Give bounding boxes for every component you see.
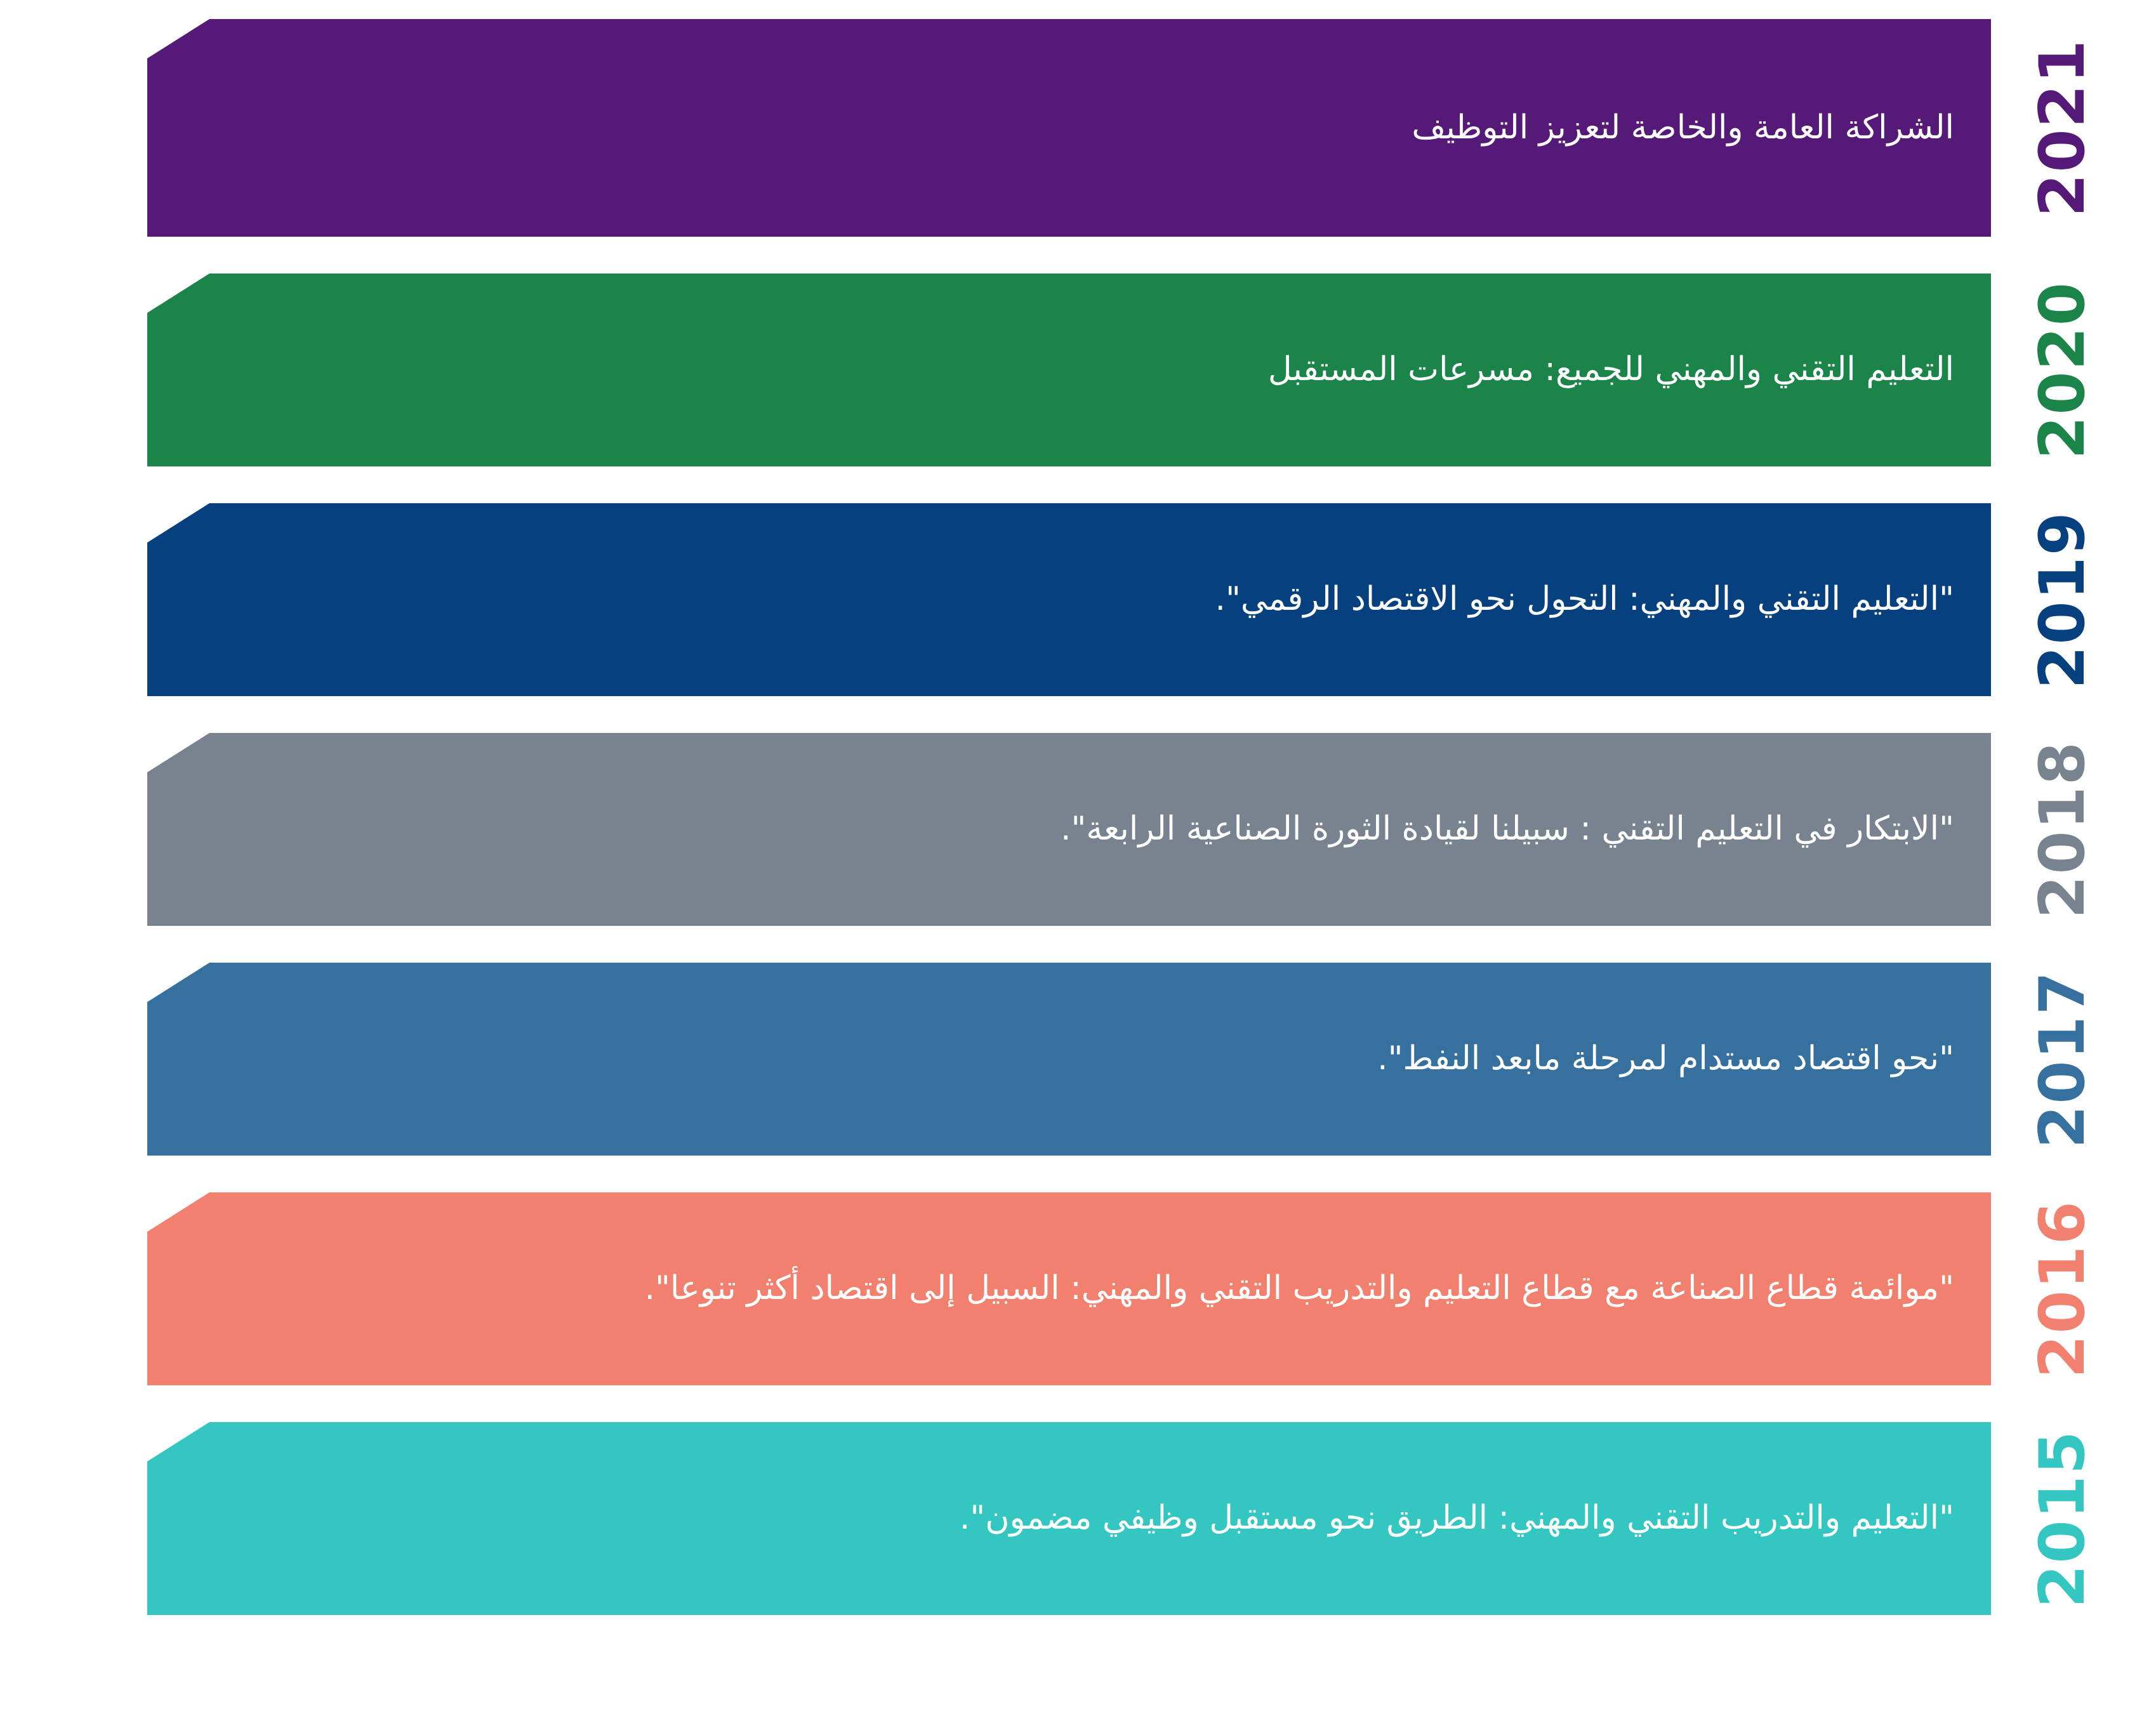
timeline-year-label-2015: 2015: [2032, 1430, 2094, 1608]
timeline-bar-text-2015: "التعليم والتدريب التقني والمهني: الطريق…: [960, 1495, 1954, 1542]
timeline-year-label-2021: 2021: [2032, 39, 2094, 217]
timeline-bar-2017: "نحو اقتصاد مستدام لمرحلة مابعد النفط".: [147, 963, 1991, 1156]
timeline-year-label-2017: 2017: [2032, 970, 2094, 1149]
timeline-year-2015: 2015: [2021, 1422, 2104, 1615]
timeline-bar-text-2021: الشراكة العامة والخاصة لتعزيز التوظيف: [1412, 105, 1954, 152]
timeline-bar-2020: التعليم التقني والمهني للجميع: مسرعات ال…: [147, 274, 1991, 466]
timeline-year-2019: 2019: [2021, 503, 2104, 696]
timeline-bar-text-2017: "نحو اقتصاد مستدام لمرحلة مابعد النفط".: [1377, 1036, 1954, 1083]
timeline-bar-text-2018: "الابتكار في التعليم التقني : سبيلنا لقي…: [1061, 806, 1954, 853]
timeline-year-2020: 2020: [2021, 274, 2104, 466]
timeline-year-label-2016: 2016: [2032, 1200, 2094, 1378]
timeline-bar-2019: "التعليم التقني والمهني: التحول نحو الاق…: [147, 503, 1991, 696]
timeline-bar-text-2020: التعليم التقني والمهني للجميع: مسرعات ال…: [1268, 346, 1954, 393]
timeline-year-2016: 2016: [2021, 1192, 2104, 1385]
timeline-bar-2021: الشراكة العامة والخاصة لتعزيز التوظيف: [147, 19, 1991, 237]
timeline-year-label-2020: 2020: [2032, 281, 2094, 459]
timeline-infographic: الشراكة العامة والخاصة لتعزيز التوظيف202…: [0, 0, 2156, 1721]
timeline-year-label-2018: 2018: [2032, 741, 2094, 919]
timeline-year-2021: 2021: [2021, 19, 2104, 237]
timeline-bar-2018: "الابتكار في التعليم التقني : سبيلنا لقي…: [147, 733, 1991, 926]
timeline-bar-text-2019: "التعليم التقني والمهني: التحول نحو الاق…: [1215, 576, 1954, 623]
timeline-bar-2016: "موائمة قطاع الصناعة مع قطاع التعليم وال…: [147, 1192, 1991, 1385]
timeline-year-2018: 2018: [2021, 733, 2104, 926]
timeline-year-label-2019: 2019: [2032, 511, 2094, 689]
timeline-bar-2015: "التعليم والتدريب التقني والمهني: الطريق…: [147, 1422, 1991, 1615]
timeline-year-2017: 2017: [2021, 963, 2104, 1156]
timeline-bar-text-2016: "موائمة قطاع الصناعة مع قطاع التعليم وال…: [644, 1265, 1954, 1312]
